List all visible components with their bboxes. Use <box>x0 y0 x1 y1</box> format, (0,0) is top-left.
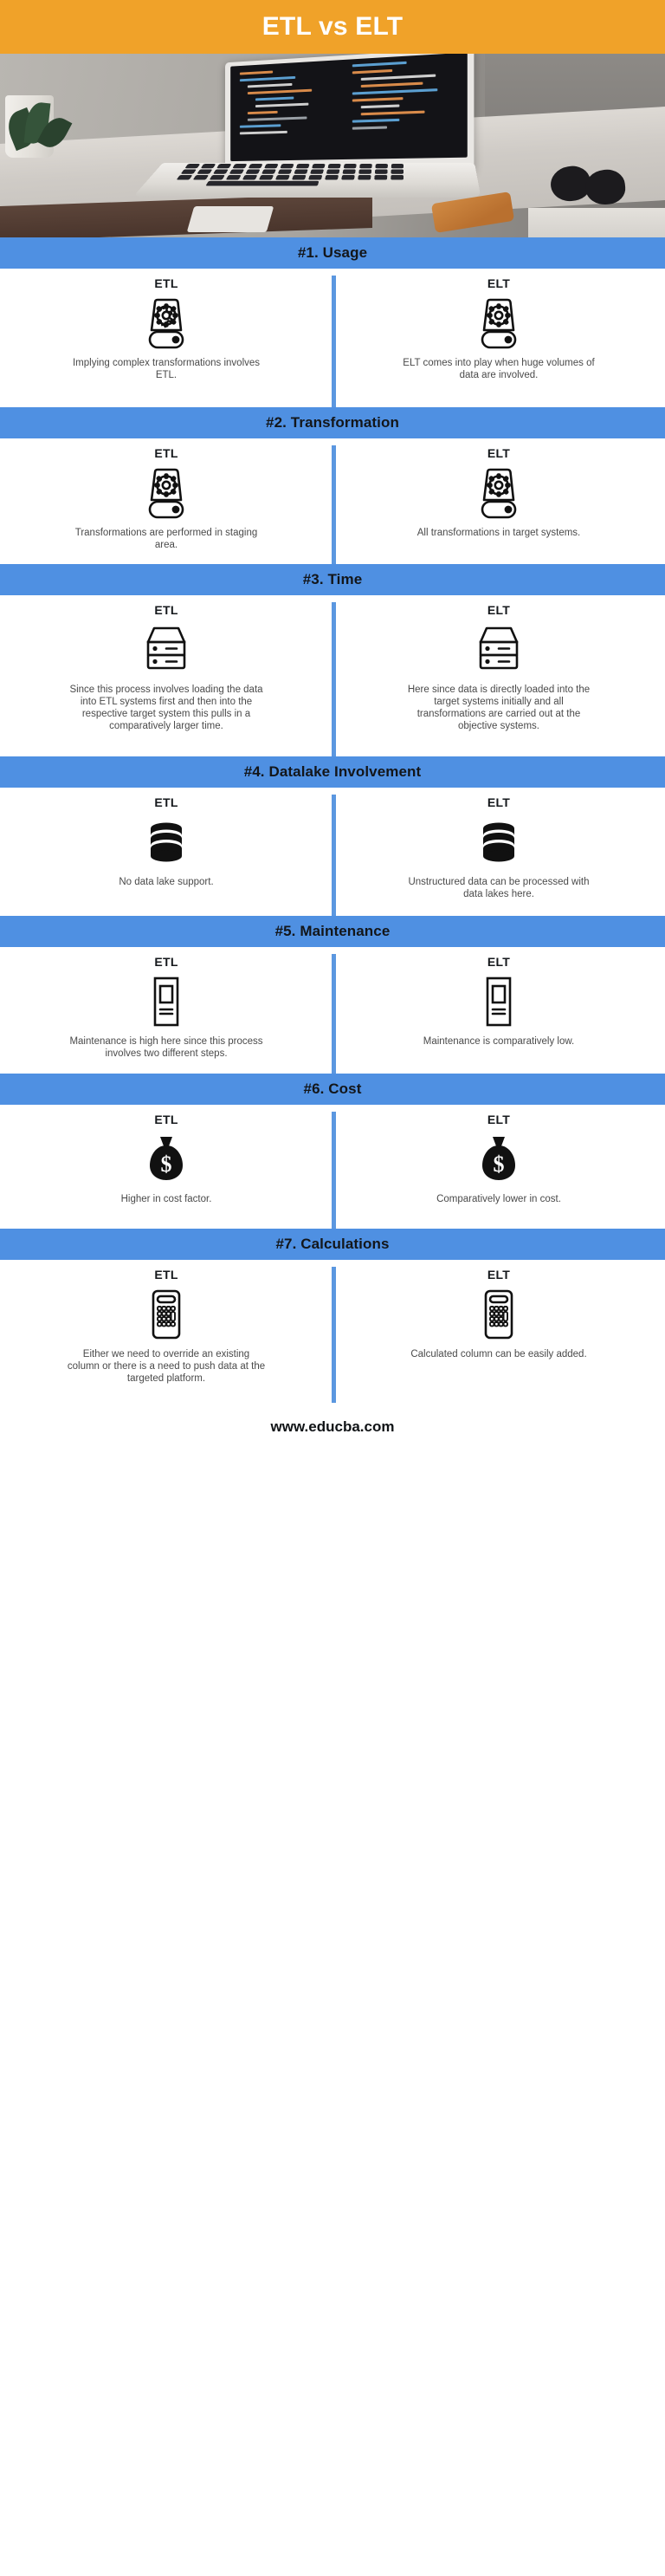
column-divider <box>332 1112 336 1229</box>
elt-label: ELT <box>487 955 510 969</box>
comparison-block-2: ETL <box>0 438 665 564</box>
comparison-block-3: ETL Since this process involves loading … <box>0 595 665 756</box>
elt-label: ELT <box>487 1113 510 1126</box>
elt-column-6: ELT $ Comparatively lower in cost. <box>332 1105 665 1229</box>
laptop-keyboard <box>168 163 418 186</box>
section-bar-3: #3. Time <box>0 564 665 595</box>
elt-column-3: ELT Here since data is directly loaded i… <box>332 595 665 756</box>
column-divider <box>332 276 336 407</box>
column-divider <box>332 602 336 756</box>
laptop-trackpad <box>187 206 274 232</box>
section-bar-1: #1. Usage <box>0 237 665 269</box>
hero-photo <box>0 54 665 237</box>
photo-desk-right <box>528 208 665 237</box>
section-bar-6: #6. Cost <box>0 1074 665 1105</box>
etl-column-6: ETL $ Higher in cost factor. <box>0 1105 332 1229</box>
infographic-page: ETL vs ELT <box>0 0 665 2576</box>
elt-label: ELT <box>487 603 510 617</box>
comparison-block-4: ETL No data lake support. ELT <box>0 788 665 916</box>
gear-in-device-icon <box>475 465 523 522</box>
section-heading-5: #5. Maintenance <box>275 923 391 940</box>
elt-column-4: ELT Unstructured data can be processed w… <box>332 788 665 916</box>
elt-label: ELT <box>487 795 510 809</box>
elt-column-2: ELT <box>332 438 665 564</box>
server-rack-icon <box>475 622 523 679</box>
etl-description-6: Higher in cost factor. <box>121 1193 212 1205</box>
laptop-display <box>230 54 468 161</box>
footer: www.educba.com <box>0 1403 665 1451</box>
etl-column-4: ETL No data lake support. <box>0 788 332 916</box>
calculator-icon <box>145 1287 187 1344</box>
page-title: ETL vs ELT <box>262 12 404 42</box>
comparison-block-1: ETL <box>0 269 665 407</box>
elt-description-4: Unstructured data can be processed with … <box>399 876 598 900</box>
plant-pot <box>5 95 54 158</box>
comparison-block-5: ETL Maintenance is high here since this … <box>0 947 665 1074</box>
database-cylinder-icon <box>141 814 191 872</box>
elt-description-6: Comparatively lower in cost. <box>436 1193 561 1205</box>
comparison-block-7: ETL <box>0 1260 665 1403</box>
elt-column-7: ELT <box>332 1260 665 1403</box>
elt-description-3: Here since data is directly loaded into … <box>399 684 598 732</box>
elt-description-1: ELT comes into play when huge volumes of… <box>399 357 598 381</box>
etl-label: ETL <box>154 1268 178 1282</box>
column-divider <box>332 954 336 1074</box>
server-rack-icon <box>142 622 190 679</box>
gear-in-device-icon <box>475 295 523 353</box>
svg-text:$: $ <box>161 1152 172 1177</box>
etl-column-7: ETL <box>0 1260 332 1403</box>
comparison-block-6: ETL $ Higher in cost factor. ELT $ Compa… <box>0 1105 665 1229</box>
section-heading-1: #1. Usage <box>298 244 367 262</box>
elt-label: ELT <box>487 446 510 460</box>
etl-description-3: Since this process involves loading the … <box>67 684 266 732</box>
section-bar-4: #4. Datalake Involvement <box>0 756 665 788</box>
money-bag-icon: $ <box>144 1132 189 1189</box>
section-heading-4: #4. Datalake Involvement <box>244 763 422 781</box>
etl-column-1: ETL <box>0 269 332 407</box>
section-heading-6: #6. Cost <box>304 1080 362 1098</box>
document-device-icon <box>147 974 185 1031</box>
database-cylinder-icon <box>474 814 524 872</box>
section-bar-2: #2. Transformation <box>0 407 665 438</box>
elt-label: ELT <box>487 276 510 290</box>
column-divider <box>332 795 336 916</box>
etl-label: ETL <box>154 955 178 969</box>
svg-text:$: $ <box>494 1152 505 1177</box>
elt-description-5: Maintenance is comparatively low. <box>423 1035 575 1048</box>
money-bag-icon: $ <box>476 1132 521 1189</box>
etl-label: ETL <box>154 276 178 290</box>
etl-column-2: ETL <box>0 438 332 564</box>
etl-description-4: No data lake support. <box>119 876 213 888</box>
section-heading-3: #3. Time <box>303 571 363 588</box>
sunglasses-object <box>551 165 641 201</box>
sunglasses-lens <box>584 168 627 207</box>
elt-column-1: ELT <box>332 269 665 407</box>
elt-column-5: ELT Maintenance is comparatively low. <box>332 947 665 1074</box>
website-url[interactable]: www.educba.com <box>271 1418 395 1436</box>
laptop-screen <box>225 54 474 174</box>
gear-in-device-icon <box>142 465 190 522</box>
column-divider <box>332 445 336 564</box>
document-device-icon <box>480 974 518 1031</box>
section-heading-2: #2. Transformation <box>266 414 399 431</box>
etl-label: ETL <box>154 446 178 460</box>
elt-description-7: Calculated column can be easily added. <box>410 1348 586 1360</box>
elt-label: ELT <box>487 1268 510 1282</box>
elt-description-2: All transformations in target systems. <box>417 527 581 539</box>
section-bar-7: #7. Calculations <box>0 1229 665 1260</box>
column-divider <box>332 1267 336 1403</box>
section-bar-5: #5. Maintenance <box>0 916 665 947</box>
section-heading-7: #7. Calculations <box>275 1236 389 1253</box>
etl-description-2: Transformations are performed in staging… <box>67 527 266 551</box>
gear-in-device-icon <box>142 295 190 353</box>
title-banner: ETL vs ELT <box>0 0 665 54</box>
etl-column-3: ETL Since this process involves loading … <box>0 595 332 756</box>
calculator-icon <box>478 1287 520 1344</box>
etl-label: ETL <box>154 603 178 617</box>
etl-label: ETL <box>154 1113 178 1126</box>
etl-column-5: ETL Maintenance is high here since this … <box>0 947 332 1074</box>
etl-description-7: Either we need to override an existing c… <box>67 1348 266 1385</box>
etl-description-1: Implying complex transformations involve… <box>67 357 266 381</box>
etl-label: ETL <box>154 795 178 809</box>
etl-description-5: Maintenance is high here since this proc… <box>67 1035 266 1060</box>
